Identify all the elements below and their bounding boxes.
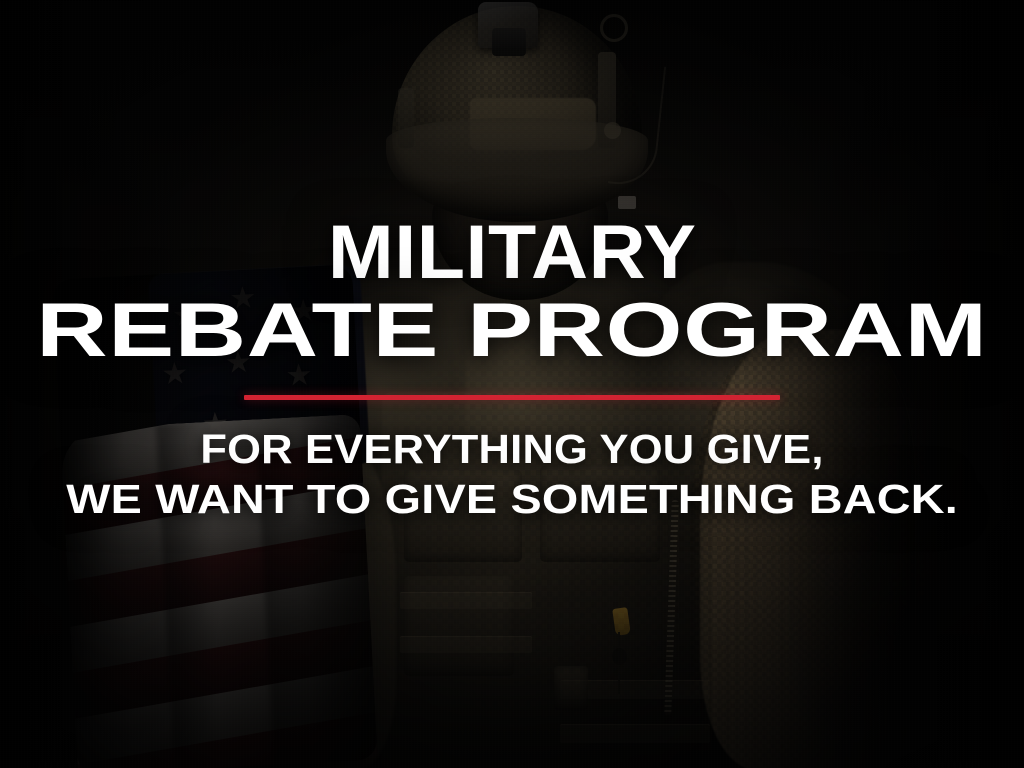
poster-text-block: MILITARY REBATE PROGRAM FOR EVERYTHING Y… bbox=[0, 0, 1024, 768]
subheadline-line-1: FOR EVERYTHING YOU GIVE, bbox=[200, 428, 823, 471]
headline-line-1: MILITARY bbox=[328, 216, 697, 290]
military-rebate-poster: ★ ★ ★ ★ ★ ★ ★ MILITAR bbox=[0, 0, 1024, 768]
headline-line-2: REBATE PROGRAM bbox=[36, 294, 987, 368]
accent-divider-rule bbox=[244, 395, 780, 400]
subheadline-line-2: WE WANT TO GIVE SOMETHING BACK. bbox=[66, 478, 958, 521]
